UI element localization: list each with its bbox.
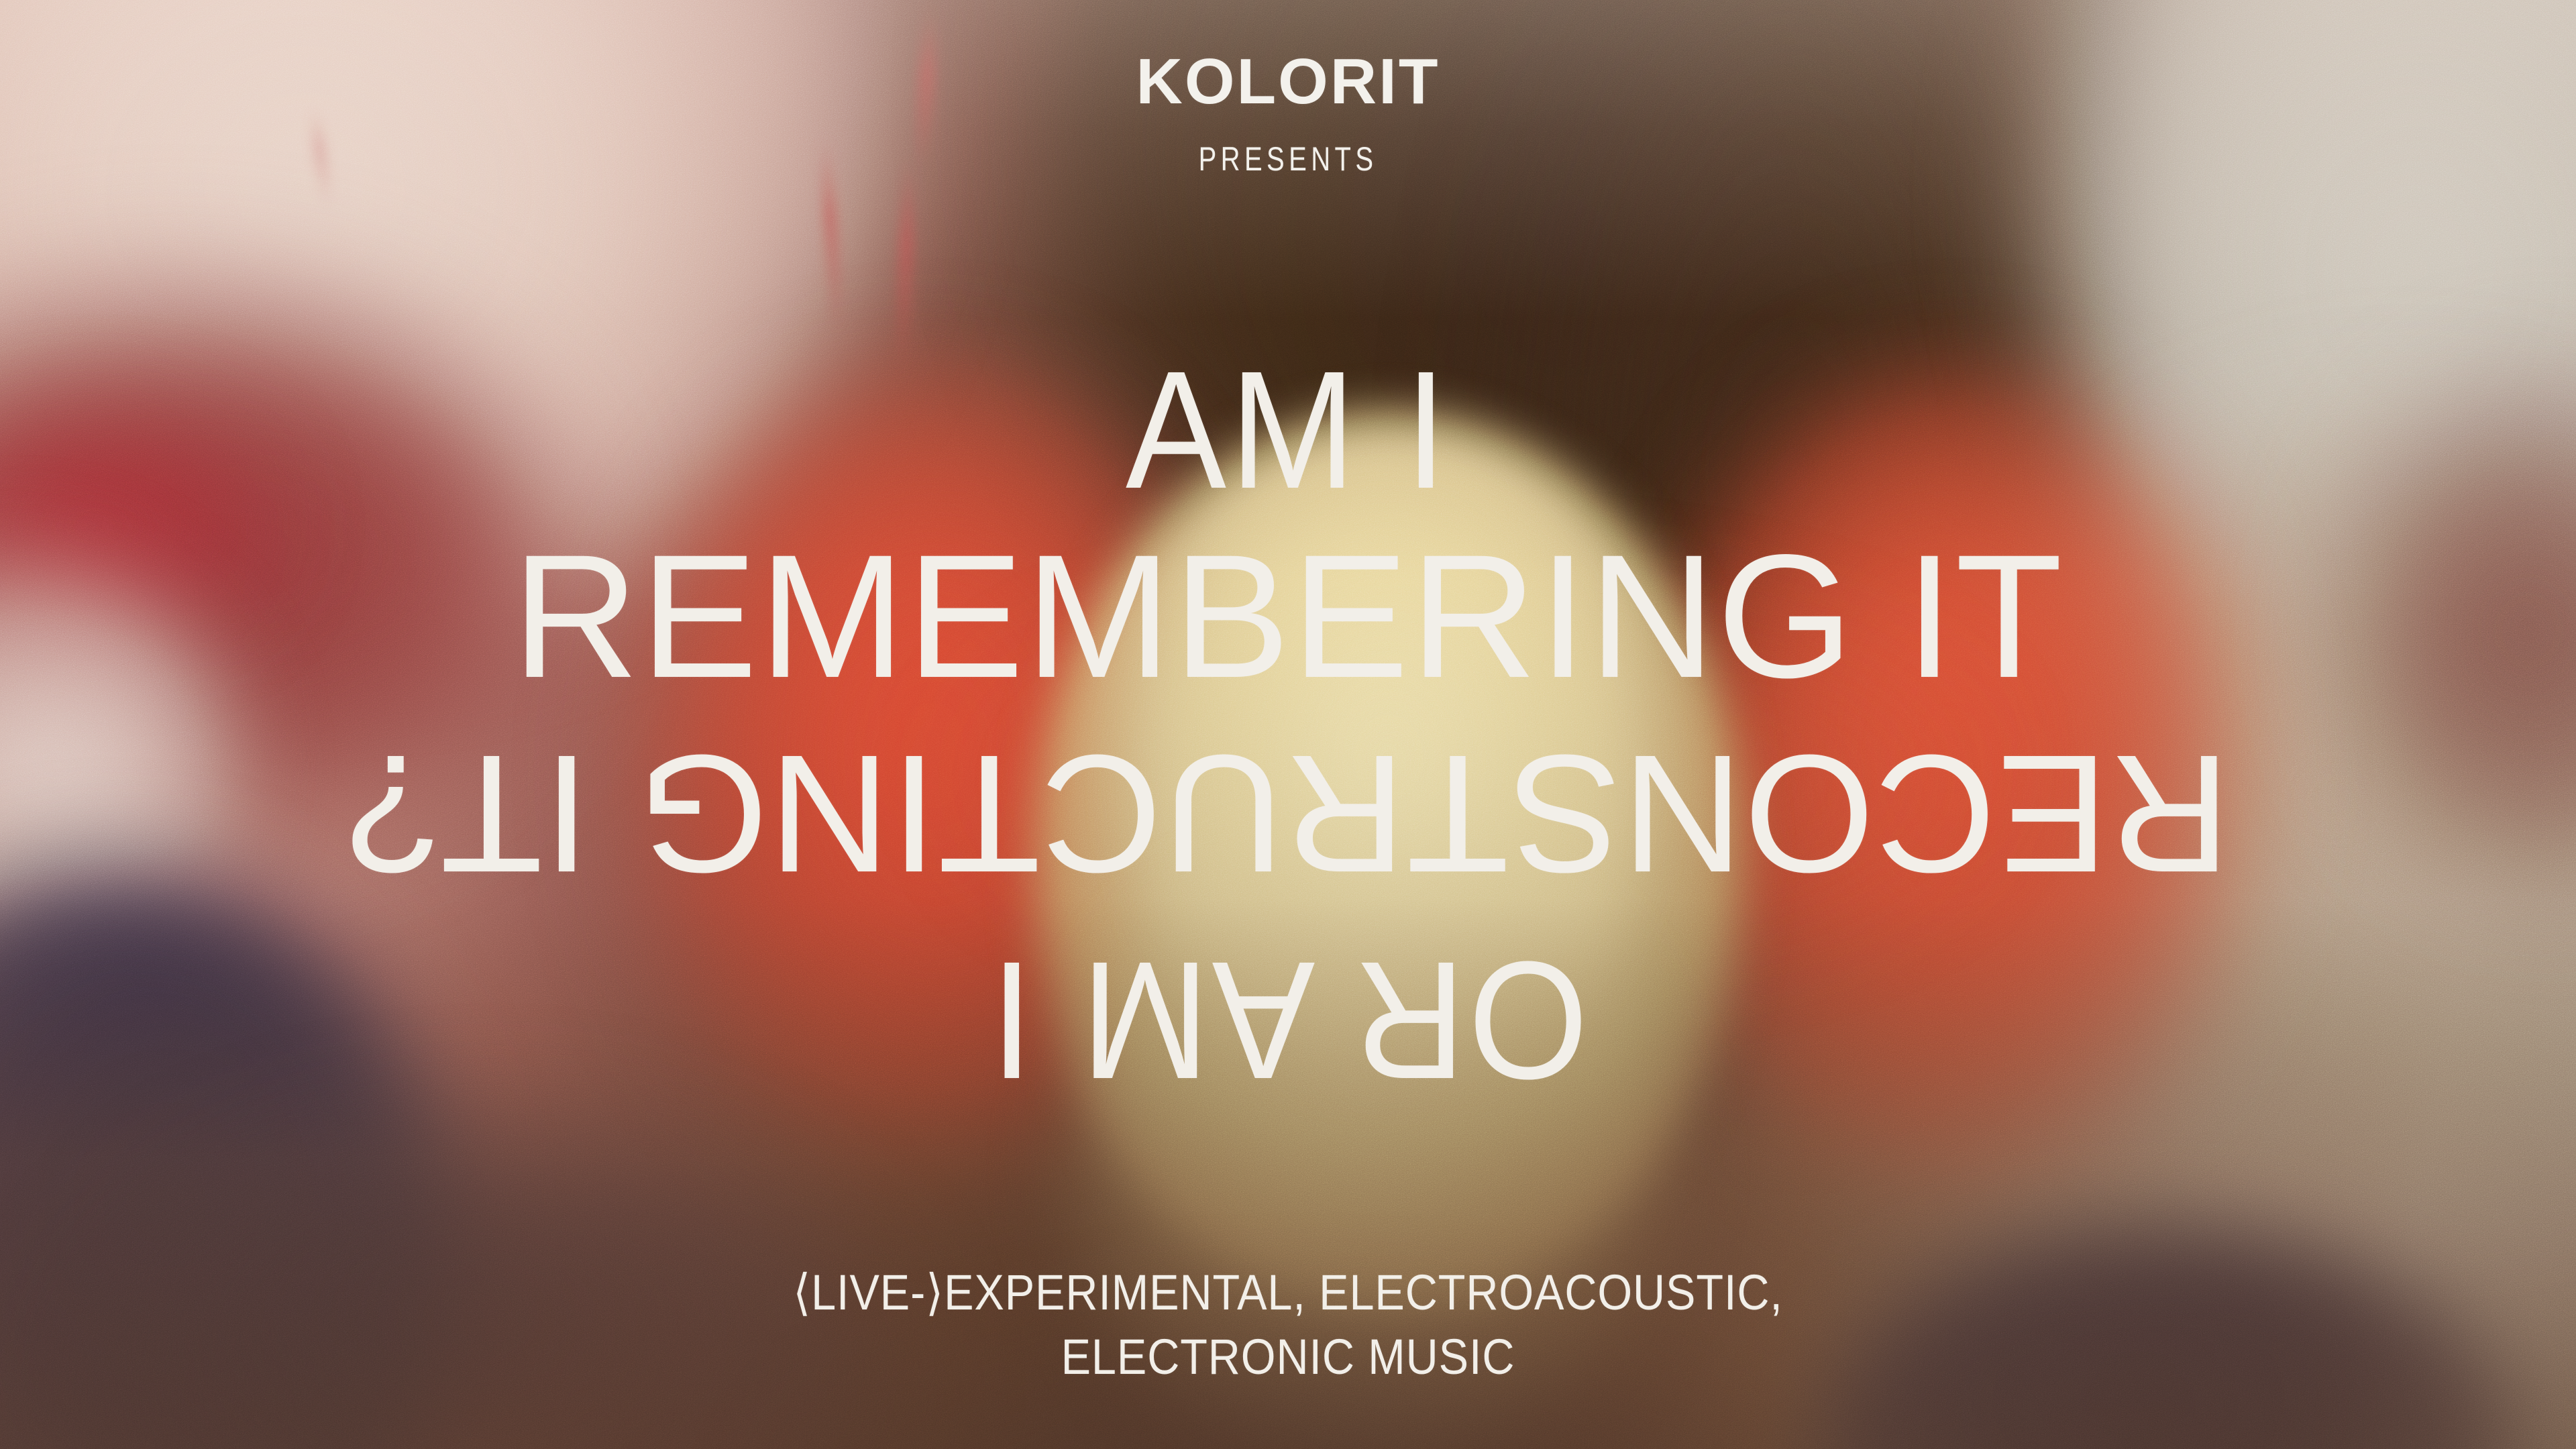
genre-line-2: ELECTRONIC MUSIC — [129, 1332, 2447, 1382]
genre-line-1: ⟨LIVE-⟩EXPERIMENTAL, ELECTROACOUSTIC, — [129, 1268, 2447, 1318]
poster-canvas: KOLORIT PRESENTS AM I REMEMBERING IT REC… — [0, 0, 2576, 1449]
headline-line-remembering-it: REMEMBERING IT — [0, 529, 2576, 704]
brand-wordmark: KOLORIT — [0, 50, 2576, 114]
presents-label: PRESENTS — [258, 142, 2318, 176]
headline-line-am-i: AM I — [129, 346, 2447, 514]
headline-line-or-am-i-rotated: OR AM I — [103, 936, 2473, 1104]
poster-content: KOLORIT PRESENTS AM I REMEMBERING IT REC… — [0, 0, 2576, 1449]
headline-line-reconstructing-it-rotated: RECONSTRUCTING IT? — [0, 730, 2576, 898]
